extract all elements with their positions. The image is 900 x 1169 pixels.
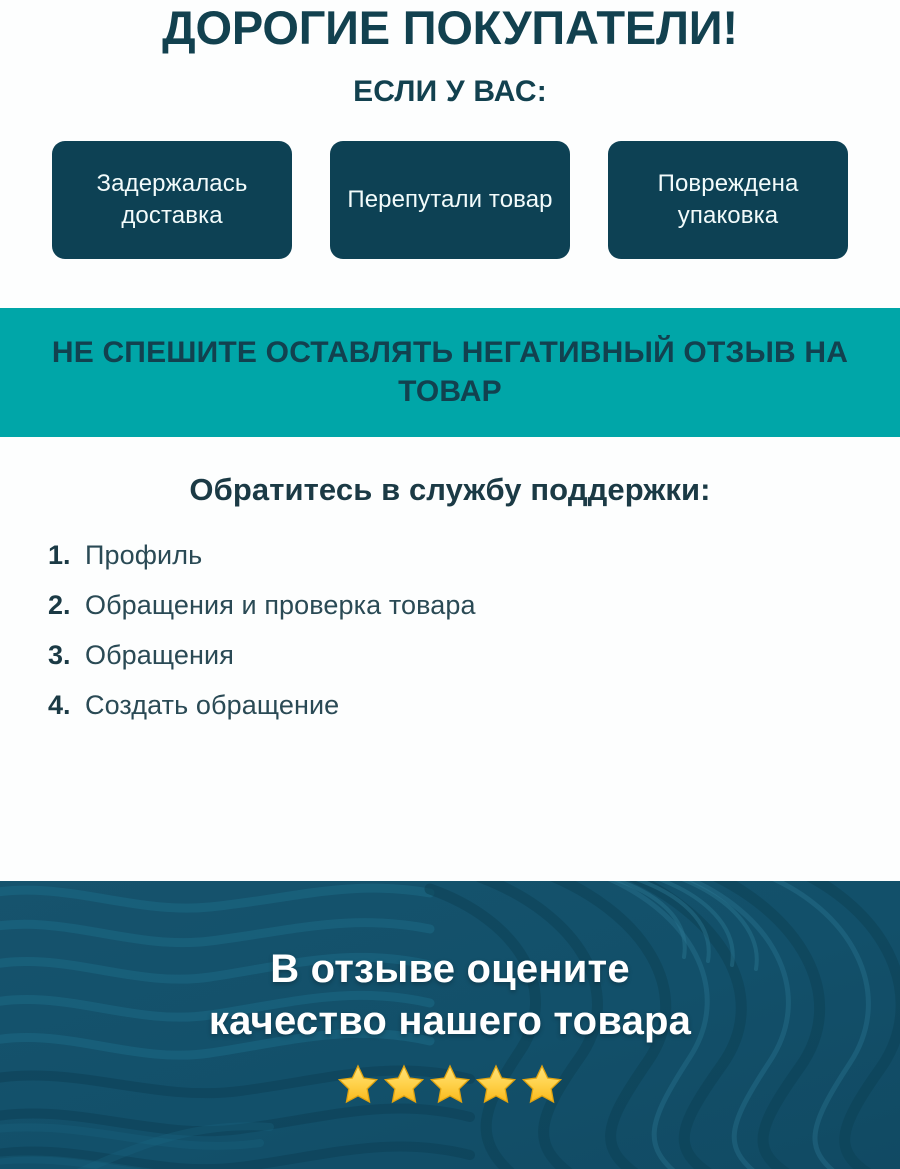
- page-title: ДОРОГИЕ ПОКУПАТЕЛИ!: [0, 0, 900, 51]
- list-item: 4. Создать обращение: [48, 690, 900, 721]
- step-number: 4.: [48, 690, 76, 721]
- warning-banner: НЕ СПЕШИТЕ ОСТАВЛЯТЬ НЕГАТИВНЫЙ ОТЗЫВ НА…: [0, 308, 900, 437]
- footer-section: В отзыве оцените качество нашего товара: [0, 881, 900, 1169]
- issue-cards-row: Задержалась доставка Перепутали товар По…: [0, 109, 900, 259]
- star-icon: [520, 1063, 564, 1107]
- support-section: Обратитесь в службу поддержки: 1. Профил…: [0, 437, 900, 881]
- step-label: Обращения и проверка товара: [85, 590, 476, 621]
- issue-card-label: Задержалась доставка: [66, 168, 278, 231]
- step-label: Создать обращение: [85, 690, 339, 721]
- step-label: Профиль: [85, 540, 202, 571]
- issue-card-delivery-delayed[interactable]: Задержалась доставка: [52, 141, 292, 259]
- step-number: 1.: [48, 540, 76, 571]
- support-steps-list: 1. Профиль 2. Обращения и проверка товар…: [0, 540, 900, 721]
- star-icon: [336, 1063, 380, 1107]
- issue-card-damaged-packaging[interactable]: Повреждена упаковка: [608, 141, 848, 259]
- list-item: 3. Обращения: [48, 640, 900, 671]
- step-number: 2.: [48, 590, 76, 621]
- star-rating: [0, 1063, 900, 1107]
- page-subtitle: ЕСЛИ У ВАС:: [0, 51, 900, 109]
- star-icon: [428, 1063, 472, 1107]
- issue-card-label: Перепутали товар: [347, 184, 552, 216]
- list-item: 2. Обращения и проверка товара: [48, 590, 900, 621]
- step-label: Обращения: [85, 640, 234, 671]
- promo-page: ДОРОГИЕ ПОКУПАТЕЛИ! ЕСЛИ У ВАС: Задержал…: [0, 0, 900, 1169]
- star-icon: [382, 1063, 426, 1107]
- warning-banner-text: НЕ СПЕШИТЕ ОСТАВЛЯТЬ НЕГАТИВНЫЙ ОТЗЫВ НА…: [50, 334, 850, 411]
- footer-line-2: качество нашего товара: [0, 995, 900, 1047]
- support-title: Обратитесь в службу поддержки:: [0, 472, 900, 508]
- footer-content: В отзыве оцените качество нашего товара: [0, 943, 900, 1107]
- issue-card-wrong-item[interactable]: Перепутали товар: [330, 141, 570, 259]
- step-number: 3.: [48, 640, 76, 671]
- footer-line-1: В отзыве оцените: [0, 943, 900, 995]
- list-item: 1. Профиль: [48, 540, 900, 571]
- header-block: ДОРОГИЕ ПОКУПАТЕЛИ! ЕСЛИ У ВАС:: [0, 0, 900, 109]
- issue-card-label: Повреждена упаковка: [622, 168, 834, 231]
- star-icon: [474, 1063, 518, 1107]
